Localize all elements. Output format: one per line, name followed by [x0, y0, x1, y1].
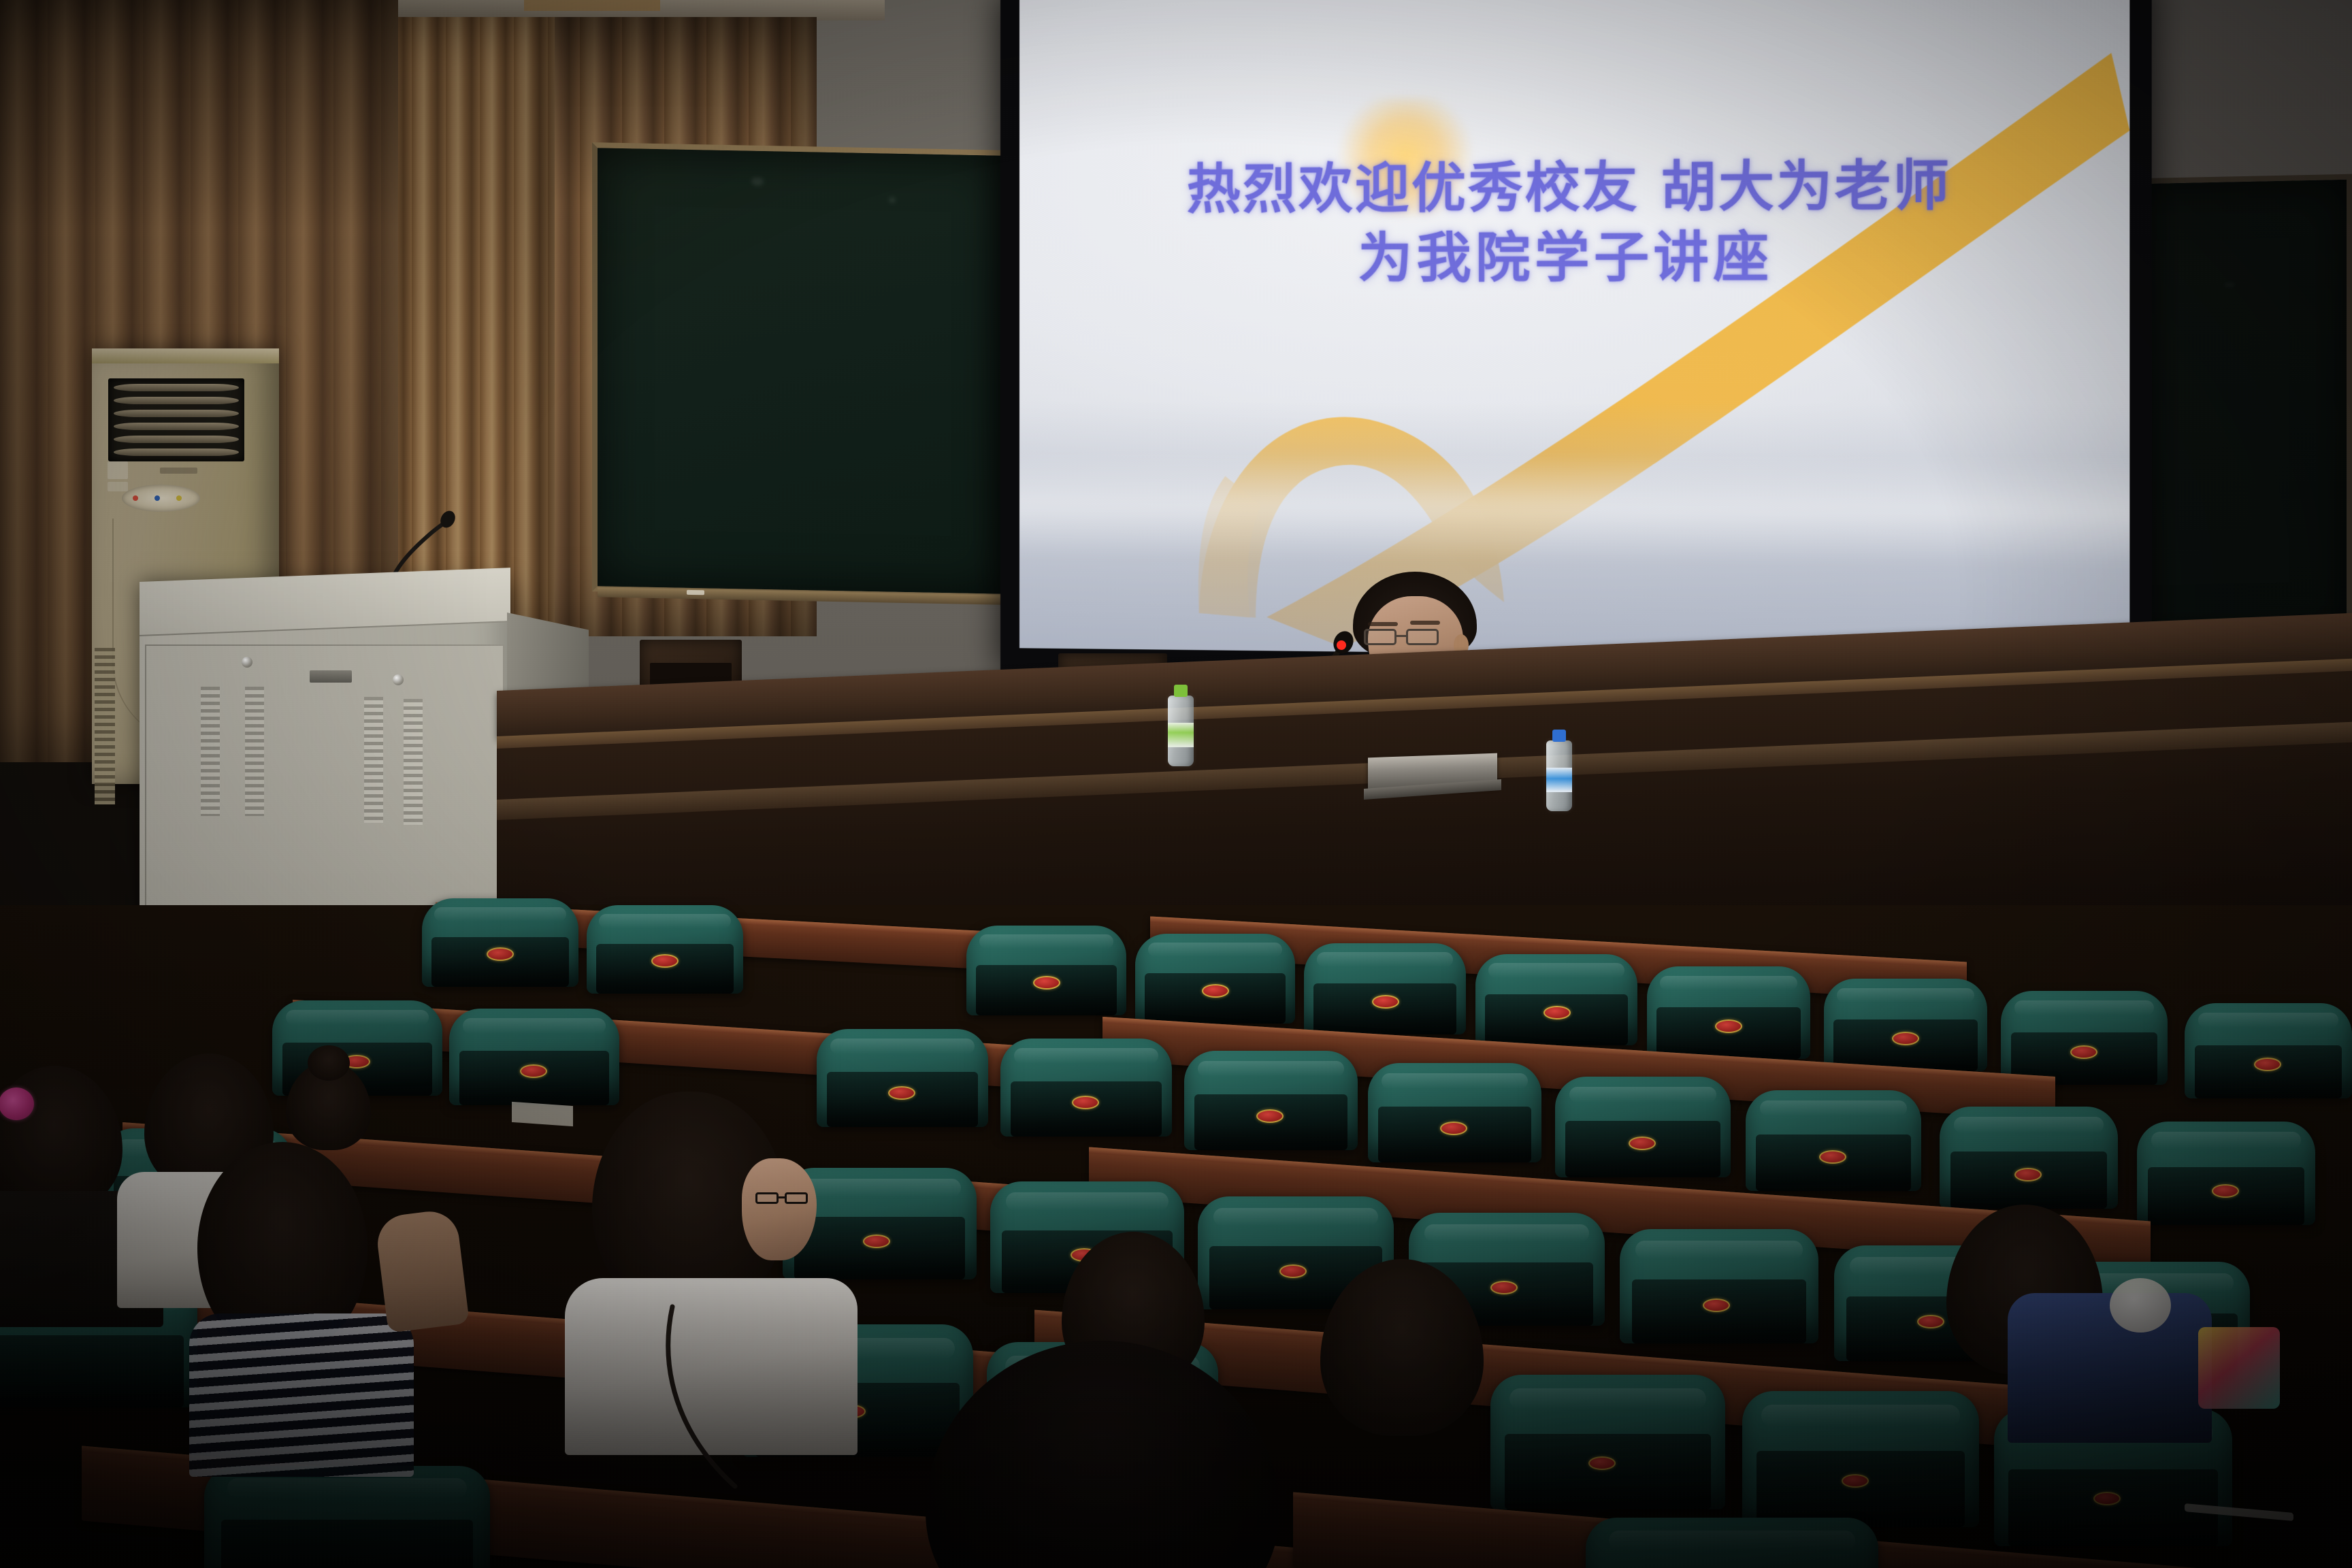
ac-sticker — [108, 482, 128, 491]
seat-medallion — [1072, 1096, 1099, 1109]
student-right-blue-shirt — [2008, 1293, 2212, 1443]
seat-medallion — [2254, 1058, 2281, 1071]
speaker-eyebrow — [1368, 622, 1398, 626]
seat-medallion — [1588, 1456, 1616, 1470]
cabinet-vent — [364, 697, 383, 823]
seat-medallion — [1372, 995, 1399, 1009]
student-hand — [374, 1208, 470, 1333]
auditorium-seat[interactable] — [1304, 943, 1466, 1034]
seat-medallion — [1256, 1109, 1284, 1123]
woman-face — [742, 1158, 817, 1260]
auditorium-seat[interactable] — [1000, 1039, 1172, 1137]
seat-medallion — [1703, 1298, 1730, 1312]
seat-medallion — [1490, 1281, 1518, 1294]
auditorium-seat[interactable] — [817, 1029, 988, 1127]
auditorium-seat[interactable] — [966, 926, 1126, 1015]
projection-screen-frame: 热烈欢迎优秀校友 胡大为老师 为我院学子讲座 — [1000, 0, 2152, 687]
auditorium-seat[interactable] — [2001, 991, 2168, 1085]
auditorium-seat[interactable] — [1135, 934, 1295, 1024]
auditorium-seat[interactable] — [204, 1466, 490, 1568]
seat-medallion — [651, 954, 679, 968]
seat-medallion — [1917, 1315, 1944, 1328]
seat-medallion — [1033, 976, 1060, 990]
ac-sticker — [108, 461, 128, 479]
ceiling-sign — [524, 0, 660, 11]
hair-bun — [308, 1045, 350, 1081]
auditorium-seat[interactable] — [1620, 1229, 1818, 1343]
laptop[interactable] — [1368, 753, 1497, 792]
lecture-hall-photo: 热烈欢迎优秀校友 胡大为老师 为我院学子讲座 — [0, 0, 2352, 1568]
auditorium-seat[interactable] — [1940, 1107, 2118, 1209]
seat-medallion — [1819, 1150, 1846, 1164]
seat-medallion — [888, 1086, 915, 1100]
projection-screen-surface: 热烈欢迎优秀校友 胡大为老师 为我院学子讲座 — [1019, 0, 2129, 660]
cabinet-vent — [404, 699, 423, 825]
cabinet-door[interactable] — [145, 644, 504, 930]
bottle-label — [1168, 723, 1194, 747]
auditorium-seat[interactable] — [1368, 1063, 1541, 1162]
white-cap — [2110, 1278, 2171, 1333]
cabinet-lock[interactable] — [242, 657, 252, 668]
seat-medallion — [1842, 1474, 1869, 1488]
auditorium-seat[interactable] — [1824, 979, 1987, 1071]
seat-medallion — [2093, 1492, 2121, 1505]
student-striped-shirt-body — [189, 1313, 414, 1477]
seat-medallion — [1279, 1264, 1307, 1278]
auditorium-seat[interactable] — [1490, 1375, 1725, 1509]
ac-control-panel[interactable] — [122, 485, 200, 512]
chalk-smudge — [2224, 283, 2235, 287]
ac-indicator-red — [133, 495, 138, 501]
slide-line-2: 为我院学子讲座 — [1019, 221, 2129, 295]
water-bottle-blue-label[interactable] — [1546, 740, 1572, 811]
seat-medallion — [2070, 1045, 2097, 1059]
neck-cord-icon — [633, 1301, 830, 1505]
ac-top-cap — [92, 348, 279, 363]
seat-medallion — [1202, 984, 1229, 998]
chalk-smudge — [751, 177, 764, 185]
seat-medallion — [520, 1064, 547, 1078]
seat-medallion — [487, 947, 514, 961]
woman-glasses-icon — [755, 1192, 818, 1204]
auditorium-seat[interactable] — [1647, 966, 1810, 1059]
seat-medallion — [2212, 1184, 2239, 1198]
bottle-cap — [1174, 685, 1188, 697]
auditorium-seat[interactable] — [1586, 1518, 1878, 1568]
water-bottle-green-label[interactable] — [1168, 696, 1194, 766]
colorful-item — [2198, 1327, 2280, 1409]
cabinet-vent — [245, 687, 264, 816]
chalkboard-left — [592, 142, 1007, 600]
chalk-piece — [687, 590, 704, 595]
ac-indicator-amber — [176, 495, 182, 501]
auditorium-seat[interactable] — [1742, 1391, 1979, 1527]
cabinet-lock[interactable] — [393, 674, 404, 685]
auditorium-seat[interactable] — [449, 1009, 619, 1105]
auditorium-seat[interactable] — [1184, 1051, 1358, 1150]
av-equipment-cabinet[interactable] — [140, 582, 510, 936]
bottle-label — [1546, 768, 1572, 792]
seat-medallion — [1629, 1137, 1656, 1150]
bottle-cap — [1552, 730, 1566, 742]
screen-light-band — [1019, 453, 2129, 566]
seat-medallion — [1715, 1019, 1742, 1033]
seat-medallion — [1440, 1122, 1467, 1135]
seat-medallion — [2014, 1168, 2042, 1181]
auditorium-seat[interactable] — [2185, 1003, 2352, 1098]
speaker-glasses-icon — [1364, 629, 1448, 647]
paper-sheet — [512, 1102, 573, 1126]
cabinet-vent — [201, 687, 220, 816]
seat-medallion — [1543, 1006, 1571, 1019]
auditorium-seat[interactable] — [1475, 954, 1637, 1045]
auditorium-seat[interactable] — [1746, 1090, 1921, 1191]
auditorium-seat[interactable] — [1555, 1077, 1731, 1177]
auditorium-seat[interactable] — [587, 905, 743, 994]
chalk-smudge — [889, 197, 896, 203]
seat-medallion — [863, 1235, 890, 1248]
auditorium-seat[interactable] — [2137, 1122, 2315, 1225]
audience-area — [0, 905, 2352, 1568]
ac-brand-logo — [160, 468, 197, 474]
speaker-eyebrow — [1410, 621, 1440, 625]
ac-indicator-blue — [154, 495, 160, 501]
seat-medallion — [1892, 1032, 1919, 1045]
slide-text-block: 热烈欢迎优秀校友 胡大为老师 为我院学子讲座 — [1019, 150, 2129, 295]
cabinet-handle[interactable] — [310, 670, 352, 683]
slide-line-1: 热烈欢迎优秀校友 胡大为老师 — [1019, 150, 2129, 225]
ac-air-grille — [108, 378, 244, 461]
auditorium-seat[interactable] — [422, 898, 578, 987]
pink-flower-hair-clip — [0, 1088, 34, 1120]
ac-side-vent — [95, 648, 115, 804]
